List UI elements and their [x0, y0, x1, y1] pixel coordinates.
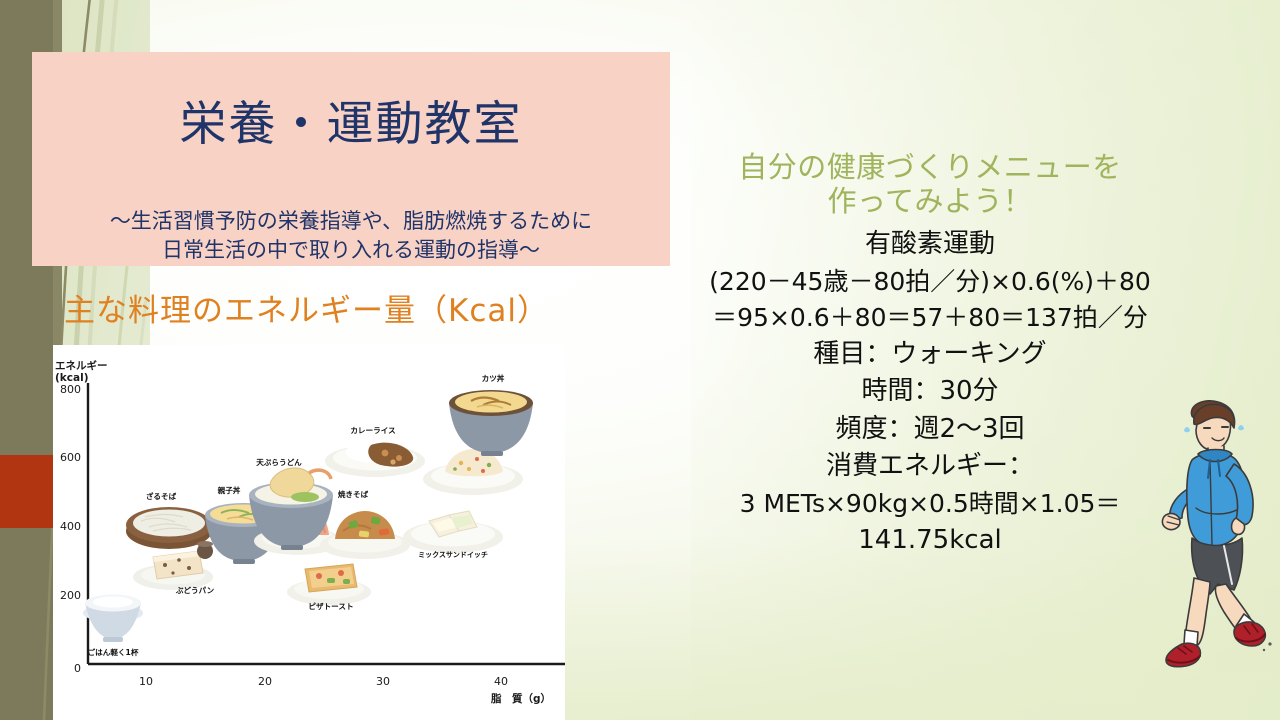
energy-scatter-chart: 800 600 400 200 0 10 20 30 40 エネルギー (kca…	[53, 345, 565, 720]
datapoint-yakisoba: 焼きそば	[320, 489, 410, 559]
right-text-column: 自分の健康づくりメニューを 作ってみよう！ 有酸素運動 (220－45歳－80拍…	[640, 150, 1220, 559]
title-box: 栄養・運動教室 ～生活習慣予防の栄養指導や、脂肪燃焼するために 日常生活の中で取…	[32, 52, 670, 266]
svg-text:30: 30	[376, 675, 390, 688]
svg-text:400: 400	[60, 520, 81, 533]
right-panel-heading: 自分の健康づくりメニューを 作ってみよう！	[640, 150, 1220, 218]
right-line-3: ＝95×0.6＋80＝57＋80＝137拍／分	[640, 300, 1220, 336]
y-axis-ticks: 800 600 400 200 0	[60, 383, 81, 675]
datapoint-katsudon: カツ丼	[449, 373, 533, 456]
x-axis-label: 脂 質（g）	[490, 692, 551, 705]
svg-text:ぶどうパン: ぶどうパン	[175, 585, 215, 595]
svg-text:200: 200	[60, 589, 81, 602]
page-subtitle: ～生活習慣予防の栄養指導や、脂肪燃焼するために 日常生活の中で取り入れる運動の指…	[40, 207, 662, 265]
y-axis-unit: (kcal)	[55, 372, 89, 384]
datapoint-sandwich: ミックスサンドイッチ	[403, 511, 503, 559]
right-panel-lines: 有酸素運動 (220－45歳－80拍／分)×0.6(%)＋80 ＝95×0.6＋…	[640, 226, 1220, 559]
x-axis-ticks: 10 20 30 40	[139, 675, 508, 688]
datapoint-zarusoba: ざるそば	[126, 491, 213, 559]
svg-text:600: 600	[60, 451, 81, 464]
right-line-7: 消費エネルギー：	[640, 448, 1220, 485]
svg-text:焼きそば: 焼きそば	[338, 489, 369, 499]
svg-text:天ぷらうどん: 天ぷらうどん	[256, 457, 302, 467]
datapoint-gohan: ごはん軽く1杯	[83, 595, 143, 658]
right-line-4: 種目：ウォーキング	[640, 336, 1220, 373]
svg-text:20: 20	[258, 675, 272, 688]
svg-text:親子丼: 親子丼	[218, 485, 241, 495]
datapoint-curryrice: カレーライス	[325, 426, 425, 477]
decoration-rust-block	[0, 455, 53, 528]
right-line-1: 有酸素運動	[640, 226, 1220, 263]
svg-text:ミックスサンドイッチ: ミックスサンドイッチ	[418, 550, 488, 559]
svg-text:ざるそば: ざるそば	[146, 491, 177, 501]
right-line-9: 141.75kcal	[640, 522, 1220, 559]
svg-text:0: 0	[74, 662, 81, 675]
datapoint-pizatoast: ピザトースト	[287, 564, 371, 611]
svg-text:800: 800	[60, 383, 81, 396]
slide-root: 栄養・運動教室 ～生活習慣予防の栄養指導や、脂肪燃焼するために 日常生活の中で取…	[0, 0, 1280, 720]
svg-text:カツ丼: カツ丼	[482, 373, 505, 383]
svg-text:ピザトースト: ピザトースト	[308, 601, 353, 611]
svg-text:40: 40	[494, 675, 508, 688]
energy-chart-panel: 800 600 400 200 0 10 20 30 40 エネルギー (kca…	[53, 345, 565, 720]
svg-text:ごはん軽く1杯: ごはん軽く1杯	[88, 647, 139, 657]
page-title: 栄養・運動教室	[32, 98, 670, 152]
right-line-6: 頻度：週2～3回	[640, 411, 1220, 448]
right-line-2: (220－45歳－80拍／分)×0.6(%)＋80	[640, 264, 1220, 300]
svg-text:カレーライス: カレーライス	[350, 426, 396, 435]
chart-heading: 主な料理のエネルギー量（Kcal）	[64, 294, 664, 328]
svg-text:10: 10	[139, 675, 153, 688]
right-line-5: 時間：30分	[640, 373, 1220, 410]
jogging-man-illustration	[1148, 398, 1274, 676]
y-axis-label: エネルギー	[55, 359, 108, 372]
right-line-8: 3 METs×90kg×0.5時間×1.05＝	[640, 486, 1220, 522]
